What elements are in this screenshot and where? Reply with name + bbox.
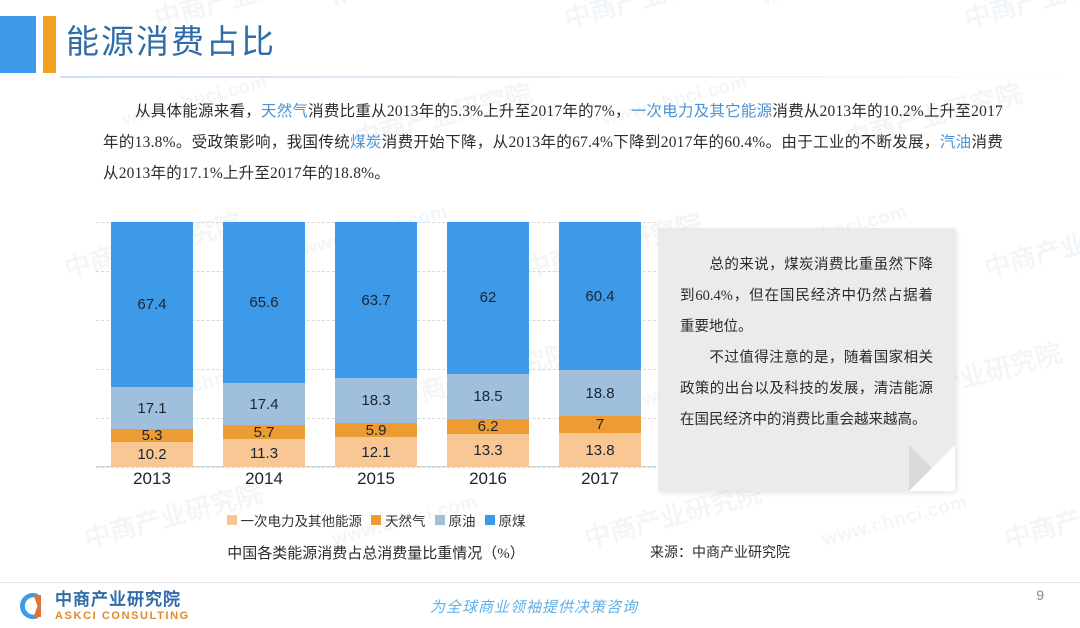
legend-label: 原油: [449, 510, 476, 530]
bar-segment: 17.4: [223, 383, 305, 426]
bar-segment: 18.8: [559, 370, 641, 416]
askci-logo-icon: [14, 589, 48, 623]
bar-segment: 65.6: [223, 222, 305, 383]
bar-segment: 17.1: [111, 387, 193, 429]
x-axis-label: 2017: [559, 469, 641, 489]
note-text-1: 总的来说，煤炭消费比重虽然下降到60.4%，但在国民经济中仍然占据着重要地位。: [680, 257, 933, 335]
bar-segment: 7: [559, 416, 641, 433]
summary-note-box: 总的来说，煤炭消费比重虽然下降到60.4%，但在国民经济中仍然占据着重要地位。 …: [658, 228, 955, 491]
paragraph-segment-4: 消费开始下降，从2013年的67.4%下降到2017年的60.4%。由于工业的不…: [382, 134, 940, 151]
legend-item: 一次电力及其他能源: [227, 510, 363, 530]
legend-swatch-icon: [485, 515, 495, 525]
bar-segment: 13.3: [447, 434, 529, 467]
chart-x-axis-labels: 20132014201520162017: [96, 469, 656, 489]
highlight-coal: 煤炭: [350, 134, 382, 151]
bar-segment: 18.3: [335, 378, 417, 423]
company-logo: 中商产业研究院 ASKCI CONSULTING: [14, 589, 190, 623]
note-paragraph-1: 总的来说，煤炭消费比重虽然下降到60.4%，但在国民经济中仍然占据着重要地位。: [680, 250, 933, 343]
bar-column: 63.718.35.912.1: [335, 222, 417, 467]
chart-caption: 中国各类能源消费占总消费量比重情况（%）: [96, 542, 656, 563]
bar-segment: 63.7: [335, 222, 417, 378]
logo-chinese-name: 中商产业研究院: [55, 591, 190, 608]
bar-column: 67.417.15.310.2: [111, 222, 193, 467]
chart-plot-area: 67.417.15.310.265.617.45.711.363.718.35.…: [96, 222, 656, 467]
legend-item: 天然气: [371, 510, 426, 530]
x-axis-label: 2014: [223, 469, 305, 489]
bar-segment: 5.3: [111, 429, 193, 442]
note-text-2: 不过值得注意的是，随着国家相关政策的出台以及科技的发展，清洁能源在国民经济中的消…: [680, 350, 933, 428]
bar-segment: 10.2: [111, 442, 193, 467]
x-axis-label: 2013: [111, 469, 193, 489]
header-orange-bar-icon: [43, 16, 56, 73]
page-number: 9: [1036, 587, 1044, 603]
summary-note-text: 总的来说，煤炭消费比重虽然下降到60.4%，但在国民经济中仍然占据着重要地位。 …: [658, 228, 955, 436]
highlight-primary-electricity: 一次电力及其它能源: [631, 103, 773, 120]
chart-bars: 67.417.15.310.265.617.45.711.363.718.35.…: [96, 222, 656, 467]
page-header: 能源消费占比: [0, 0, 1080, 86]
footer-tagline: 为全球商业领袖提供决策咨询: [430, 596, 638, 617]
bar-segment: 5.7: [223, 425, 305, 439]
paragraph-segment-1: 从具体能源来看，: [135, 103, 261, 120]
bar-segment: 11.3: [223, 439, 305, 467]
bar-segment: 62: [447, 222, 529, 374]
note-fold-corner-icon: [909, 445, 955, 491]
x-axis-label: 2015: [335, 469, 417, 489]
chart-source: 来源：中商产业研究院: [650, 542, 790, 562]
legend-item: 原煤: [485, 510, 526, 530]
watermark-text: 中商产业研究院: [980, 203, 1080, 286]
highlight-natural-gas: 天然气: [261, 103, 308, 120]
legend-swatch-icon: [371, 515, 381, 525]
note-paragraph-2: 不过值得注意的是，随着国家相关政策的出台以及科技的发展，清洁能源在国民经济中的消…: [680, 343, 933, 436]
legend-swatch-icon: [435, 515, 445, 525]
watermark-text: 中商产业研究院: [1000, 473, 1080, 556]
bar-column: 65.617.45.711.3: [223, 222, 305, 467]
header-divider: [60, 76, 1075, 78]
stacked-bar-chart: 67.417.15.310.265.617.45.711.363.718.35.…: [96, 222, 656, 467]
bar-segment: 60.4: [559, 222, 641, 370]
bar-segment: 12.1: [335, 437, 417, 467]
bar-column: 60.418.8713.8: [559, 222, 641, 467]
x-axis-label: 2016: [447, 469, 529, 489]
legend-label: 原煤: [499, 510, 526, 530]
bar-segment: 67.4: [111, 222, 193, 387]
bar-segment: 13.8: [559, 433, 641, 467]
paragraph-segment-2: 消费比重从2013年的5.3%上升至2017年的7%，: [308, 103, 631, 120]
highlight-gasoline: 汽油: [940, 134, 972, 151]
legend-label: 天然气: [385, 510, 426, 530]
body-paragraph: 从具体能源来看，天然气消费比重从2013年的5.3%上升至2017年的7%，一次…: [103, 96, 1003, 189]
bar-segment: 6.2: [447, 419, 529, 434]
bar-segment: 18.5: [447, 374, 529, 419]
gridline: [96, 467, 656, 468]
watermark-text: www.chnci.com: [820, 491, 970, 551]
bar-segment: 5.9: [335, 423, 417, 437]
legend-label: 一次电力及其他能源: [241, 510, 363, 530]
chart-legend: 一次电力及其他能源天然气原油原煤: [96, 510, 656, 530]
legend-swatch-icon: [227, 515, 237, 525]
page-title: 能源消费占比: [66, 18, 276, 68]
header-blue-square-icon: [0, 16, 36, 73]
logo-english-name: ASKCI CONSULTING: [55, 611, 190, 622]
footer-divider: [0, 582, 1080, 583]
bar-column: 6218.56.213.3: [447, 222, 529, 467]
legend-item: 原油: [435, 510, 476, 530]
logo-text: 中商产业研究院 ASKCI CONSULTING: [55, 591, 190, 622]
